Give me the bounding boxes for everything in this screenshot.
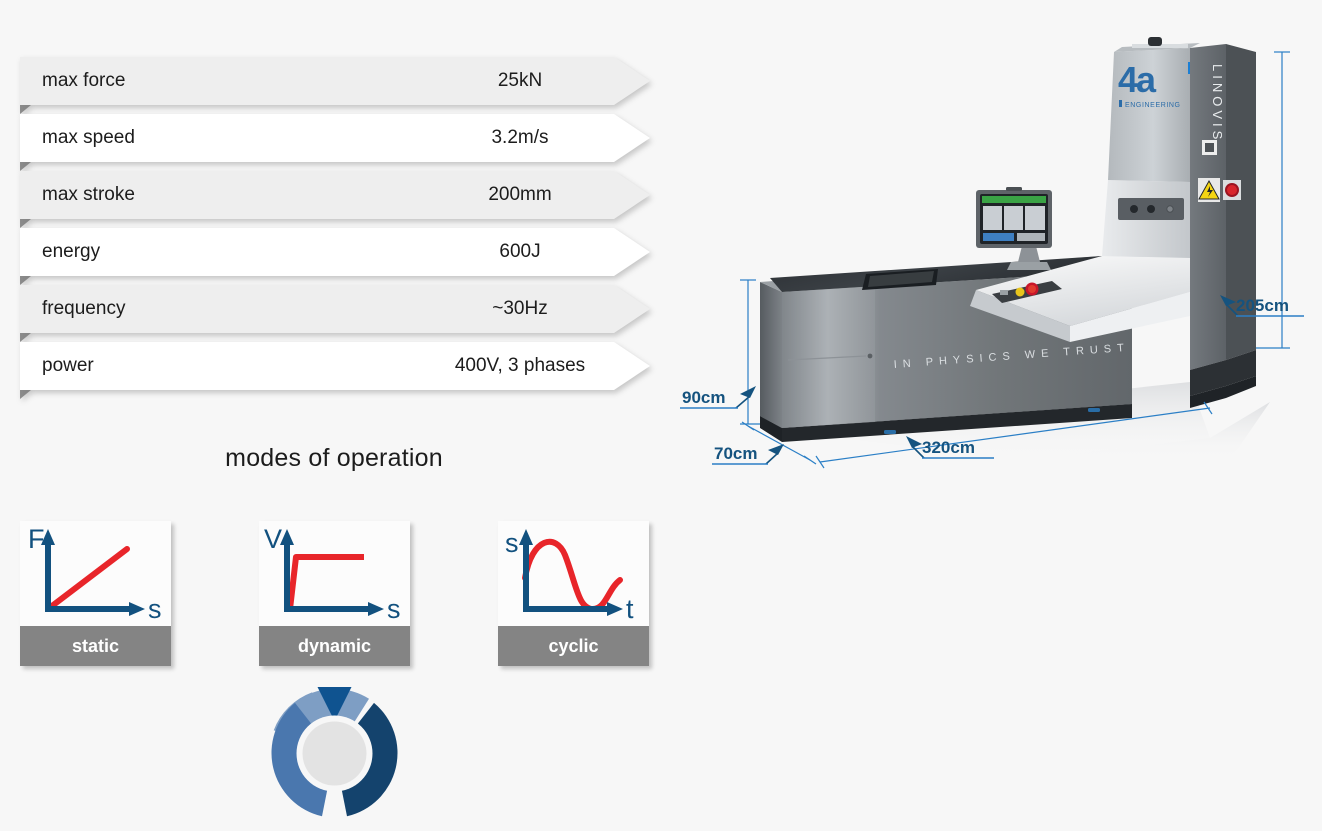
spec-label: max speed <box>42 114 135 162</box>
machine-warning-label <box>1198 178 1220 202</box>
spec-row: max force 25kN <box>20 57 650 105</box>
spec-value: ~30Hz <box>320 285 720 333</box>
spec-row: max stroke 200mm <box>20 171 650 219</box>
machine-door-icon <box>1202 140 1217 155</box>
spec-row: max speed 3.2m/s <box>20 114 650 162</box>
dynamic-step-graph-icon: V s <box>259 521 410 626</box>
mode-card-static[interactable]: F s static <box>20 521 171 666</box>
svg-text:4a: 4a <box>1118 59 1157 100</box>
svg-text:t: t <box>626 594 634 624</box>
spec-value: 25kN <box>320 57 720 105</box>
svg-text:s: s <box>148 594 162 624</box>
svg-text:320cm: 320cm <box>922 438 975 457</box>
mode-card-label: static <box>20 626 171 666</box>
static-ramp-graph-icon: F s <box>20 521 171 626</box>
svg-text:205cm: 205cm <box>1236 296 1289 315</box>
spec-value: 600J <box>320 228 720 276</box>
svg-text:s: s <box>505 528 519 558</box>
spec-row: energy 600J <box>20 228 650 276</box>
spec-value: 200mm <box>320 171 720 219</box>
mode-card-label: dynamic <box>259 626 410 666</box>
spec-label: max force <box>42 57 125 105</box>
machine-hmi-monitor[interactable] <box>976 187 1052 270</box>
svg-text:90cm: 90cm <box>682 388 725 407</box>
svg-text:LINOVIS: LINOVIS <box>1210 64 1225 143</box>
spec-label: power <box>42 342 94 390</box>
logo-hub <box>303 722 367 786</box>
machine-product-illustration: IN PHYSICS WE TRUST <box>670 30 1322 500</box>
circular-segment-logo <box>262 681 407 826</box>
spec-label: max stroke <box>42 171 135 219</box>
spec-row: power 400V, 3 phases <box>20 342 650 390</box>
machine-model-name: LINOVIS <box>1210 64 1225 143</box>
spec-row-fold-icon <box>20 105 31 114</box>
spec-label: frequency <box>42 285 125 333</box>
mode-card-label: cyclic <box>498 626 649 666</box>
spec-row-fold-icon <box>20 276 31 285</box>
machine-emergency-stop-button[interactable] <box>1223 180 1241 200</box>
cyclic-sine-graph-icon: s t <box>498 521 649 626</box>
spec-row-fold-icon <box>20 390 31 399</box>
spec-row-fold-icon <box>20 162 31 171</box>
svg-text:F: F <box>28 524 45 554</box>
spec-row-fold-icon <box>20 219 31 228</box>
spec-value: 400V, 3 phases <box>320 342 720 390</box>
spec-table: max force 25kN max speed 3.2m/s max stro… <box>20 57 650 399</box>
mode-card-cyclic[interactable]: s t cyclic <box>498 521 649 666</box>
svg-text:s: s <box>387 594 401 624</box>
spec-row: frequency ~30Hz <box>20 285 650 333</box>
svg-text:70cm: 70cm <box>714 444 757 463</box>
mode-card-dynamic[interactable]: V s dynamic <box>259 521 410 666</box>
svg-text:V: V <box>264 524 282 554</box>
spec-value: 3.2m/s <box>320 114 720 162</box>
modes-of-operation-heading: modes of operation <box>0 444 668 473</box>
svg-text:ENGINEERING: ENGINEERING <box>1125 102 1181 109</box>
spec-row-fold-icon <box>20 333 31 342</box>
spec-label: energy <box>42 228 100 276</box>
